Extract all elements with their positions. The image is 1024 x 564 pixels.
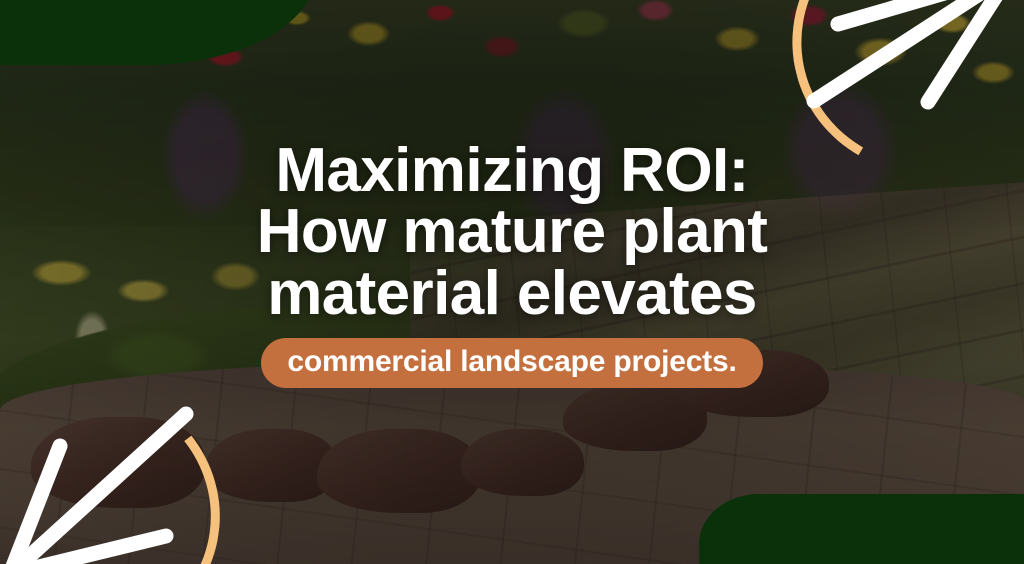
headline-line-3: material elevates bbox=[20, 263, 1004, 324]
bottom-right-green-block bbox=[699, 494, 1024, 564]
hero-banner: Maximizing ROI: How mature plant materia… bbox=[0, 0, 1024, 564]
headline-block: Maximizing ROI: How mature plant materia… bbox=[0, 140, 1024, 388]
subtitle-pill: commercial landscape projects. bbox=[261, 338, 762, 388]
arrow-down-left-icon bbox=[0, 402, 220, 564]
page-title: Maximizing ROI: How mature plant materia… bbox=[20, 140, 1004, 324]
headline-line-1: Maximizing ROI: bbox=[20, 140, 1004, 201]
headline-line-2: How mature plant bbox=[20, 201, 1004, 262]
